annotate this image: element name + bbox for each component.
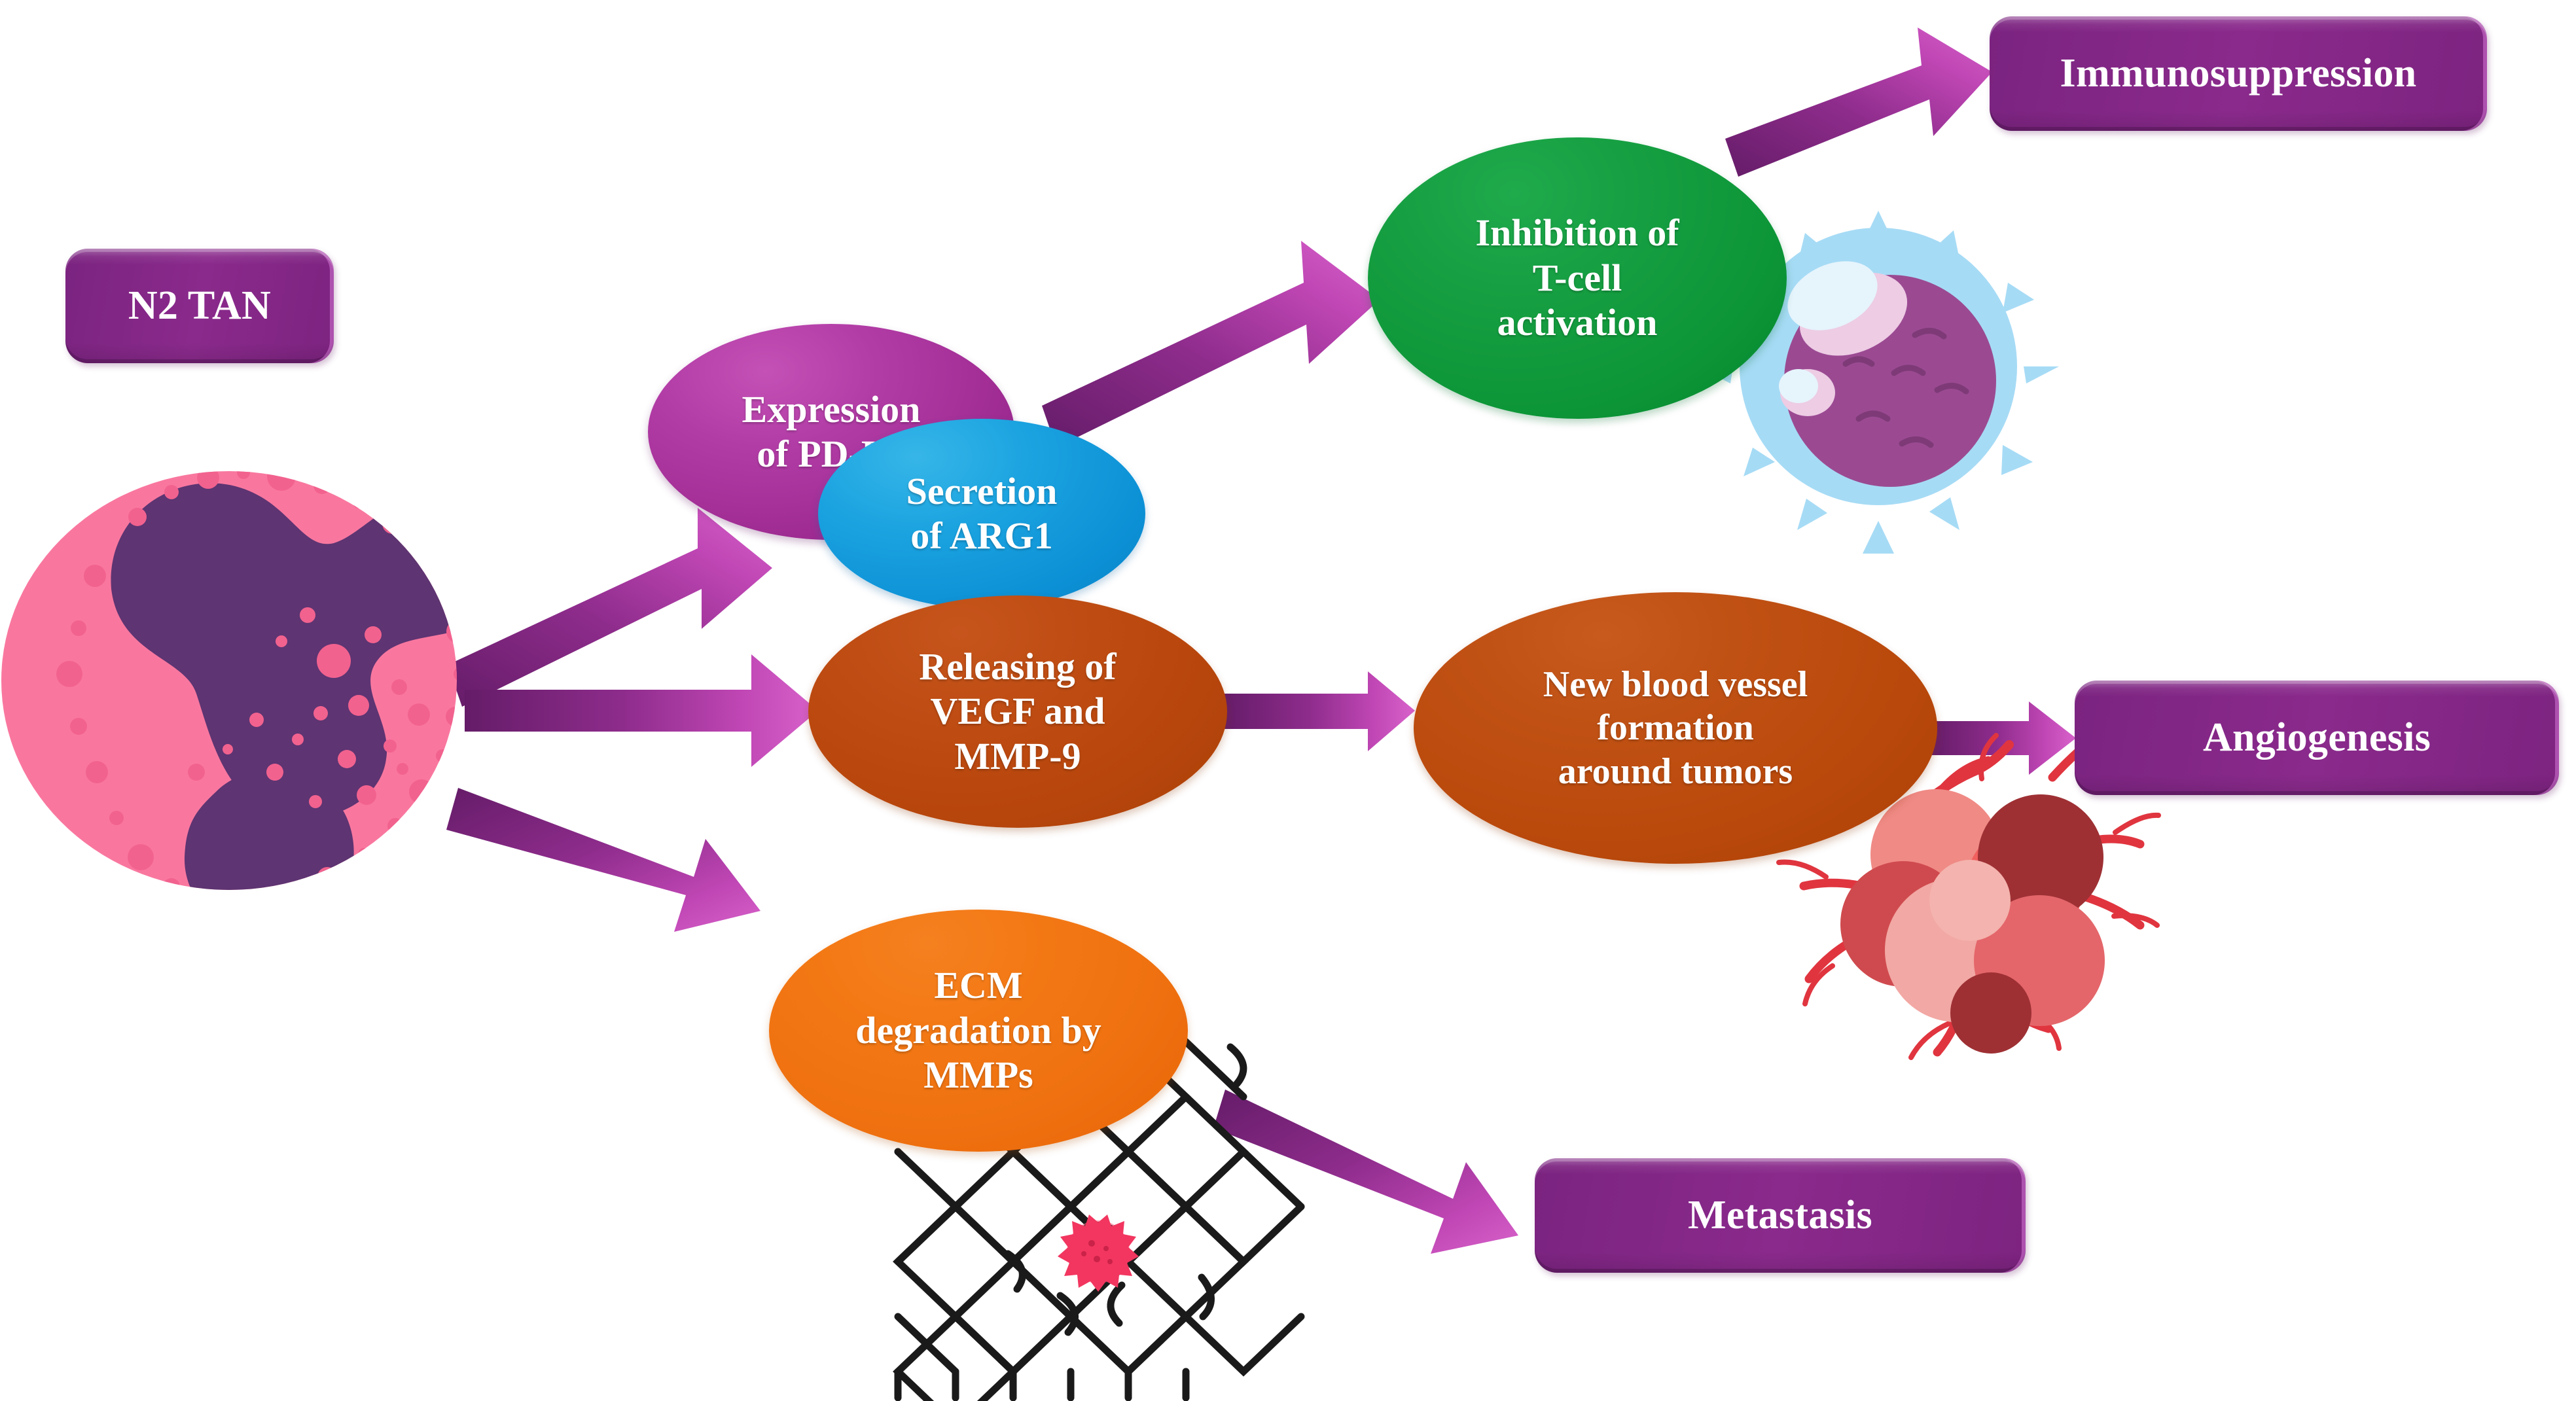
node-n2-tan[interactable]: N2 TAN: [65, 249, 334, 363]
arrow-vessel-to-angiogenesis: [1931, 701, 2076, 775]
node-n2-tan-label: N2 TAN: [128, 282, 271, 330]
node-angiogenesis-label: Angiogenesis: [2203, 714, 2431, 762]
arrow-neutrophil-to-vegf: [465, 654, 818, 767]
node-ecm-label: ECM degradation by MMPs: [855, 963, 1101, 1097]
neutrophil-cell-illustration: [1, 462, 518, 936]
arrow-neutrophil-to-ecm: [446, 788, 760, 932]
node-arg1-label: Secretion of ARG1: [906, 469, 1058, 559]
arrow-neutrophil-to-pdl1: [448, 508, 772, 707]
node-ecm-degradation[interactable]: ECM degradation by MMPs: [769, 910, 1188, 1152]
node-tcell-label: Inhibition of T-cell activation: [1475, 211, 1679, 345]
escaping-tumor-cell-icon: [1058, 1215, 1139, 1292]
arrow-pdl1-to-tcell: [1042, 241, 1380, 448]
node-vessel-label: New blood vessel formation around tumors: [1543, 663, 1808, 792]
node-vegf-release[interactable]: Releasing of VEGF and MMP-9: [808, 595, 1227, 828]
arrow-ecm-to-metastasis: [1213, 1090, 1518, 1254]
node-vegf-label: Releasing of VEGF and MMP-9: [919, 645, 1116, 779]
node-arg1-secretion[interactable]: Secretion of ARG1: [818, 419, 1145, 609]
diagram-canvas: N2 TAN Expression of PD-L1 Secretion of …: [0, 0, 2576, 1401]
arrow-vegf-to-vessel: [1223, 671, 1415, 751]
node-tcell-inhibition[interactable]: Inhibition of T-cell activation: [1368, 137, 1787, 419]
arrow-tcell-to-immunosuppression: [1725, 27, 1992, 177]
node-metastasis-label: Metastasis: [1688, 1192, 1872, 1239]
node-angiogenesis[interactable]: Angiogenesis: [2075, 681, 2559, 795]
node-immunosuppression[interactable]: Immunosuppression: [1990, 16, 2487, 131]
node-metastasis[interactable]: Metastasis: [1535, 1158, 2026, 1273]
node-vessel-formation[interactable]: New blood vessel formation around tumors: [1414, 592, 1937, 864]
node-immunosuppression-label: Immunosuppression: [2060, 50, 2417, 98]
